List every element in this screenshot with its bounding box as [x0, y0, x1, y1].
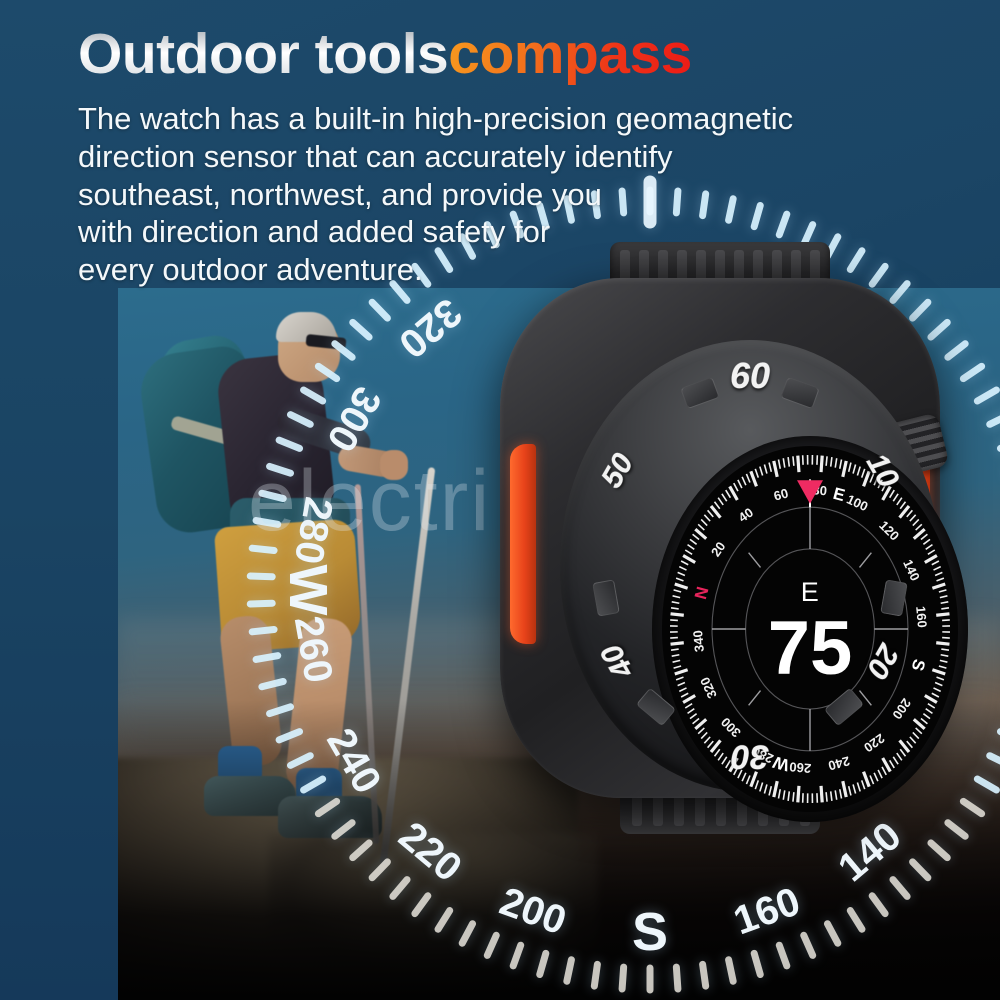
svg-text:140: 140: [900, 557, 923, 583]
description-line: with direction and added safety for: [78, 213, 868, 251]
description-text: The watch has a built-in high-precision …: [78, 100, 868, 289]
bezel-number-50: 50: [595, 448, 641, 494]
svg-text:200: 200: [889, 696, 914, 722]
svg-text:N: N: [691, 585, 713, 602]
svg-text:340: 340: [690, 630, 707, 653]
bezel-plate: [680, 377, 719, 409]
svg-text:100: 100: [844, 491, 870, 514]
svg-text:260: 260: [789, 759, 812, 776]
watch-dial-outer: 2040608010012014016020022024026028030032…: [652, 436, 968, 822]
promo-banner: 40140160S200220240260W280300320 electri …: [0, 0, 1000, 1000]
smartwatch: 2040608010012014016020022024026028030032…: [470, 250, 970, 830]
bezel-plate: [592, 579, 620, 616]
bezel-number-30: 30: [731, 737, 769, 776]
svg-text:E: E: [831, 484, 847, 505]
svg-text:60: 60: [772, 485, 790, 503]
compass-dial[interactable]: 2040608010012014016020022024026028030032…: [662, 446, 958, 812]
description-line: southeast, northwest, and provide you: [78, 176, 868, 214]
title-part-compass: compass: [448, 22, 692, 86]
case-accent-left: [510, 444, 536, 644]
watch-case: 2040608010012014016020022024026028030032…: [500, 278, 940, 798]
svg-text:160: 160: [913, 605, 930, 628]
description-line: The watch has a built-in high-precision …: [78, 100, 868, 138]
svg-text:320: 320: [697, 675, 720, 701]
watch-bezel: 2040608010012014016020022024026028030032…: [560, 340, 940, 792]
svg-text:20: 20: [708, 539, 729, 559]
svg-text:S: S: [908, 657, 929, 673]
svg-text:240: 240: [827, 753, 852, 773]
svg-text:220: 220: [861, 731, 887, 756]
bezel-number-40: 40: [595, 638, 641, 684]
page-title: Outdoor toolscompass: [78, 26, 692, 83]
bezel-plate: [780, 377, 819, 409]
svg-text:120: 120: [876, 518, 902, 544]
title-part-outdoor-tools: Outdoor tools: [78, 22, 448, 86]
description-line: every outdoor adventure.: [78, 251, 868, 289]
bezel-number-60: 60: [730, 355, 770, 397]
description-line: direction sensor that can accurately ide…: [78, 138, 868, 176]
svg-text:40: 40: [736, 505, 756, 526]
